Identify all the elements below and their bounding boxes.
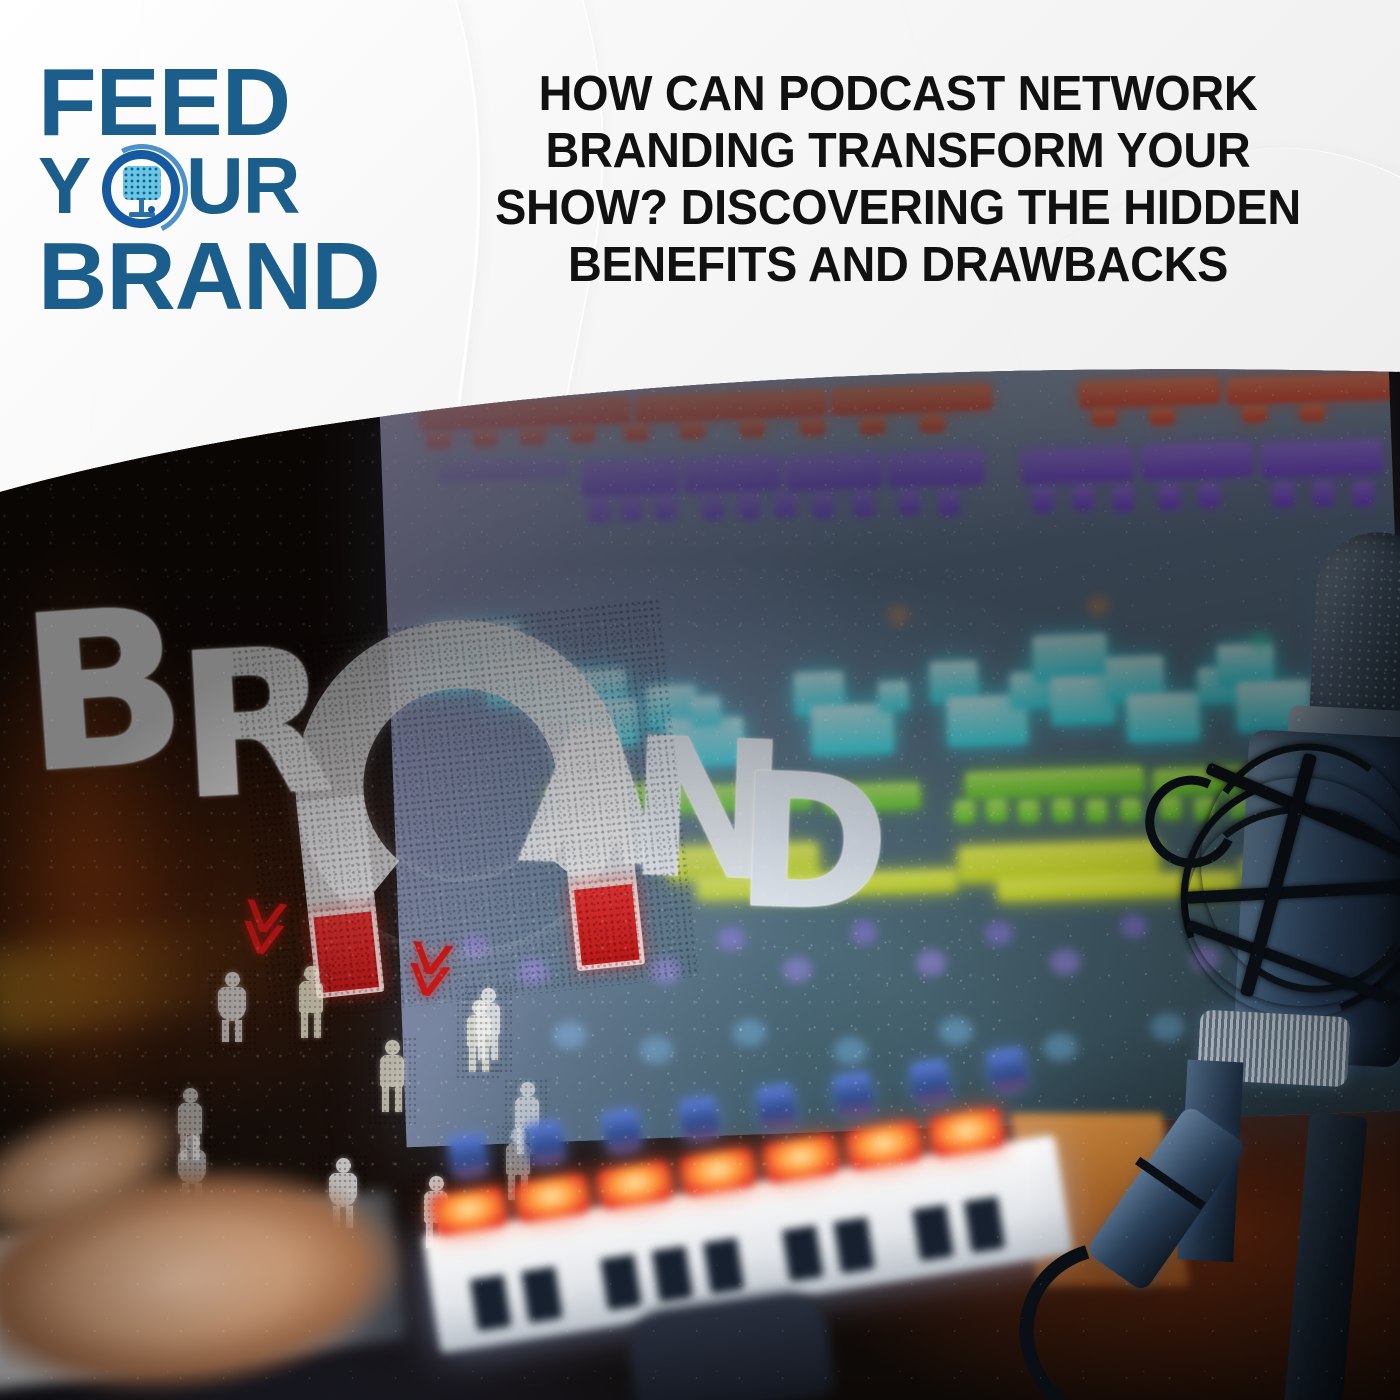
- logo-letters-ur: UR: [186, 148, 300, 223]
- chalk-dust-overlay: [0, 400, 1000, 1200]
- microphone-icon: [96, 144, 188, 236]
- microphone-grille: [1309, 529, 1400, 725]
- episode-title: HOW CAN PODCAST NETWORK BRANDING TRANSFO…: [468, 66, 1328, 294]
- podcast-cover-art: FEED Y UR BRAND HOW CAN PODCAST NETWORK …: [0, 0, 1400, 1400]
- logo-line-feed: FEED: [38, 58, 438, 148]
- logo-letter-y: Y: [38, 148, 90, 223]
- logo-line-your: Y UR: [38, 148, 438, 234]
- logo-line-brand: BRAND: [38, 232, 438, 322]
- brand-logo[interactable]: FEED Y UR BRAND: [38, 58, 438, 322]
